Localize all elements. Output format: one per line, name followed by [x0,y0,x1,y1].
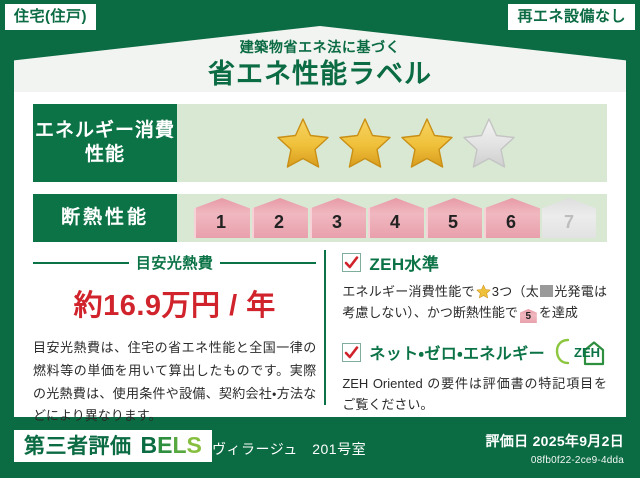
grade-number: 5 [448,212,458,233]
star-empty-4 [461,116,517,170]
label-body-card: エネルギー消費性能 [14,92,626,417]
utility-cost-column: 目安光熱費 約16.9万円 / 年 目安光熱費は、住宅の省エネ性能と全国一律の燃… [33,250,324,405]
redaction-block [540,285,553,297]
star-rating [177,116,607,170]
star-filled-3 [399,116,455,170]
label-title-block: 建築物省エネ法に基づく 省エネ性能ラベル [0,40,640,88]
zeh-standard-title: ZEH水準 [369,250,439,275]
star-filled-2 [337,116,393,170]
zeh-body-text-4: を達成 [539,305,578,320]
grade-number: 3 [332,212,342,233]
badge-renewable-equipment: 再エネ設備なし [508,4,635,30]
energy-performance-label: エネルギー消費性能 [33,104,177,182]
inline-star-icon [476,284,491,299]
zeh-body-text-1: エネルギー消費性能で [342,284,474,299]
zeh-standard-body: エネルギー消費性能で 3つ（太光発電は考慮しない）、かつ断熱性能で5を達成 [342,281,607,323]
heading-rule-left [33,262,129,264]
net-zero-energy-title: ネット・ゼロ・エネルギー [369,340,545,364]
insulation-grade-scale: 1 2 3 4 5 [177,198,607,238]
lower-content-area: 目安光熱費 約16.9万円 / 年 目安光熱費は、住宅の省エネ性能と全国一律の燃… [33,250,607,405]
inline-grade-badge-icon: 5 [520,309,537,323]
grade-number: 4 [390,212,400,233]
heading-rule-right [220,262,316,264]
star-filled-1 [275,116,331,170]
utility-cost-heading: 目安光熱費 [33,252,316,273]
bels-logo: BELS [141,434,202,457]
grade-number: 1 [216,212,226,233]
insulation-grade-5: 5 [426,198,480,238]
insulation-performance-label: 断熱性能 [33,194,177,242]
badge-building-type: 住宅(住戸) [5,4,96,30]
energy-performance-row: エネルギー消費性能 [33,104,607,182]
insulation-performance-row: 断熱性能 1 2 3 4 [33,194,607,242]
svg-text:ZEH: ZEH [574,345,600,360]
zeh-body-text-2: 3つ（太 [492,284,539,299]
footer-right-info: 評価日 2025年9月2日 08fb0f22-2ce9-4dda [485,431,624,466]
zeh-logo-icon: ZEH [555,337,607,367]
check-icon [342,343,361,362]
label-title-main: 省エネ性能ラベル [0,60,640,88]
net-zero-energy-body: ZEH Oriented の要件は評価書の特記項目をご覧ください。 [342,373,607,415]
label-footer: 第三者評価 BELS ヴィラージュ 201号室 評価日 2025年9月2日 08… [0,417,640,478]
insulation-grade-3: 3 [310,198,364,238]
check-icon [342,253,361,272]
zeh-standard-block: ZEH水準 エネルギー消費性能で 3つ（太光発電は考慮しない）、かつ断熱性能で5… [342,250,607,323]
grade-number: 2 [274,212,284,233]
insulation-grade-2: 2 [252,198,306,238]
zeh-column: ZEH水準 エネルギー消費性能で 3つ（太光発電は考慮しない）、かつ断熱性能で5… [324,250,607,405]
evaluation-date: 評価日 2025年9月2日 [485,431,624,451]
insulation-grade-6: 6 [484,198,538,238]
insulation-grade-7: 7 [542,198,596,238]
utility-cost-note: 目安光熱費は、住宅の省エネ性能と全国一律の燃料等の単価を用いて算出したものです。… [33,337,316,428]
utility-cost-value: 約16.9万円 / 年 [33,282,316,324]
evaluation-id: 08fb0f22-2ce9-4dda [485,455,624,466]
label-title-sub: 建築物省エネ法に基づく [0,40,640,55]
energy-performance-label: 住宅(住戸) 再エネ設備なし 建築物省エネ法に基づく 省エネ性能ラベル エネルギ… [0,0,640,478]
inline-grade-number: 5 [520,309,537,324]
grade-number: 6 [506,212,516,233]
insulation-grade-4: 4 [368,198,422,238]
net-zero-energy-heading: ネット・ゼロ・エネルギー ZEH [342,337,607,367]
net-zero-energy-block: ネット・ゼロ・エネルギー ZEH ZEH Oriented の要件は評価書の特記… [342,337,607,415]
bels-plate: 第三者評価 BELS [14,430,212,462]
zeh-standard-heading: ZEH水準 [342,250,607,275]
insulation-grade-1: 1 [194,198,248,238]
utility-cost-heading-text: 目安光熱費 [136,252,214,273]
third-party-eval-label: 第三者評価 [24,436,132,457]
property-name: ヴィラージュ 201号室 [212,439,366,459]
grade-number: 7 [564,212,574,233]
